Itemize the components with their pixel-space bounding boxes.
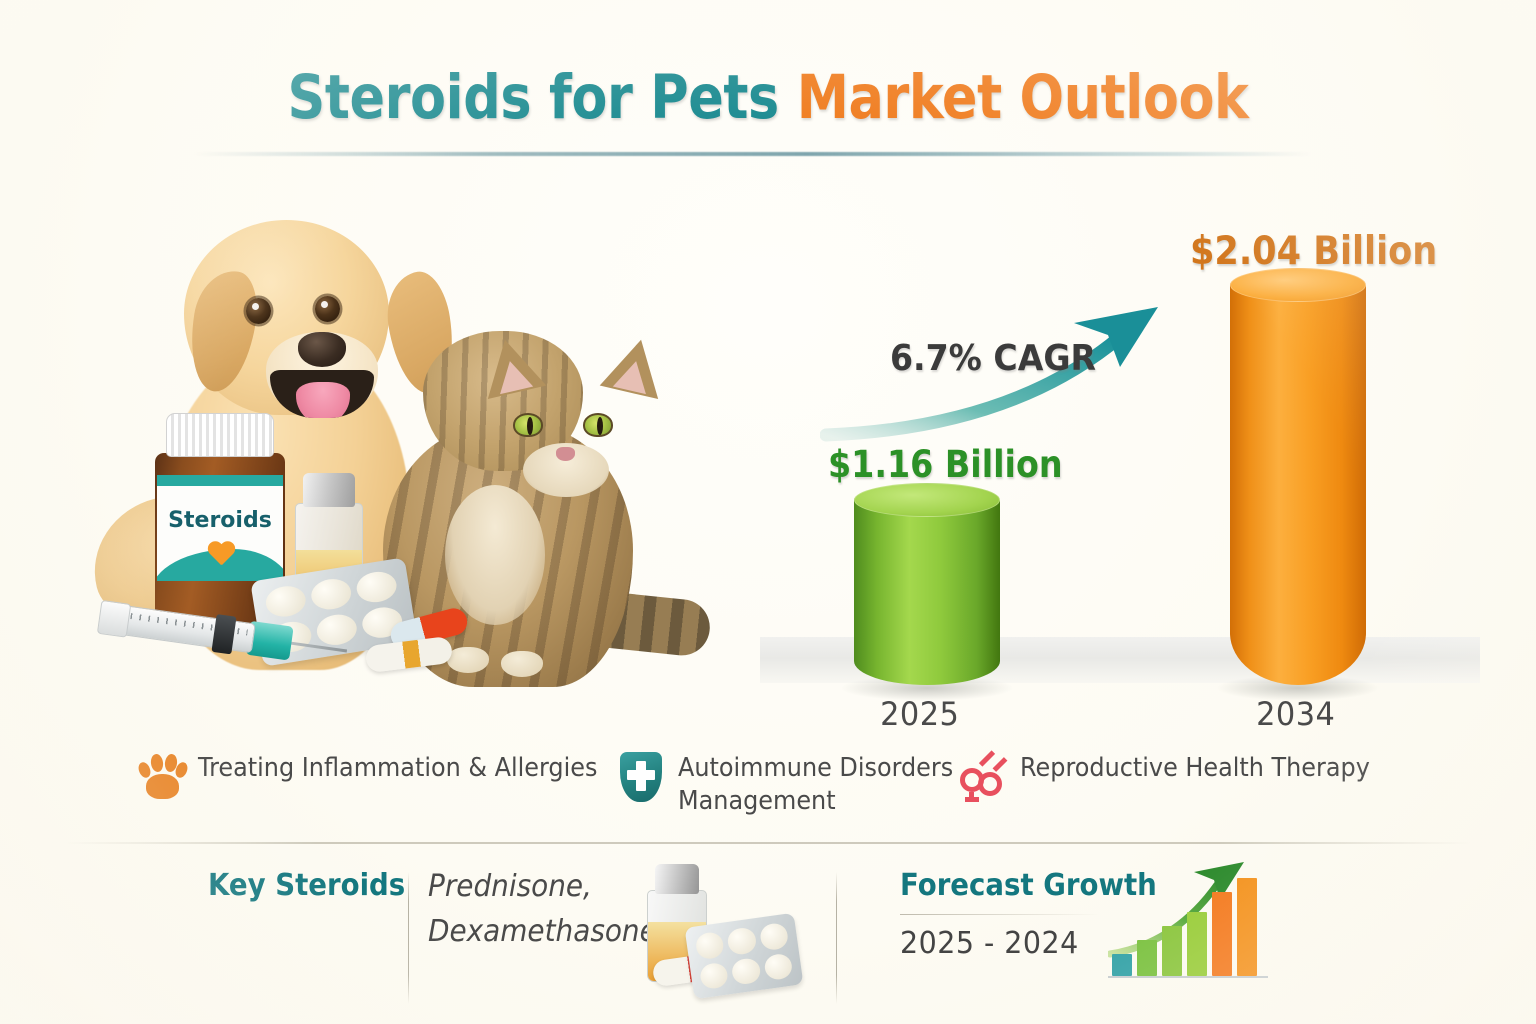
bar-body — [854, 500, 1000, 685]
key-steroids-title: Key Steroids — [208, 868, 405, 903]
dog-eye-left — [246, 298, 271, 324]
cat-ear-left — [476, 333, 547, 399]
feature-row: Treating Inflammation & Allergies Autoim… — [60, 748, 1480, 828]
mini-bar — [1237, 878, 1257, 976]
vertical-divider-2 — [836, 872, 837, 1004]
syringe-plunger — [97, 600, 131, 638]
axis-label-2034: 2034 — [1256, 695, 1335, 733]
bar-2034 — [1230, 285, 1366, 685]
bar-2025 — [854, 500, 1000, 685]
hero-illustration: Steroids — [60, 185, 760, 725]
feature-label: Reproductive Health Therapy — [1020, 752, 1370, 785]
bar-body — [1230, 285, 1366, 685]
feature-reproductive-health: Reproductive Health Therapy — [960, 752, 1400, 802]
bottom-panel: Key Steroids Prednisone, Dexamethasone F… — [60, 856, 1480, 1016]
cat-head — [423, 331, 583, 471]
capsules — [350, 615, 480, 669]
cat-paw-right — [501, 651, 543, 677]
bottle-label-text: Steroids — [157, 508, 283, 533]
mini-growth-chart — [1108, 862, 1268, 992]
shield-cross-icon — [618, 752, 664, 802]
mini-bar — [1137, 940, 1157, 976]
small-vial-cap — [655, 864, 699, 894]
feature-label: Autoimmune Disorders Management — [678, 752, 953, 819]
paw-icon — [138, 752, 184, 802]
cat-ear-right — [600, 333, 671, 399]
market-size-bar-chart: $1.16 Billion $2.04 Billion 2025 2034 — [760, 215, 1480, 735]
bar-top-ellipse — [1230, 268, 1366, 302]
bottle-label: Steroids — [157, 475, 283, 581]
pill — [695, 931, 726, 960]
cat-nose — [556, 447, 575, 461]
title-divider — [193, 152, 1311, 156]
dog-ear-left — [183, 266, 263, 396]
title-part-orange: Market Outlook — [797, 62, 1249, 133]
axis-label-2025: 2025 — [880, 695, 959, 733]
mini-chart-baseline — [1108, 976, 1268, 978]
pill — [699, 961, 730, 990]
heart-icon — [207, 542, 235, 567]
vertical-divider-1 — [408, 872, 409, 1004]
pill — [759, 922, 790, 951]
feature-label: Treating Inflammation & Allergies — [198, 752, 597, 785]
pill — [727, 926, 758, 955]
cat-eye-left — [513, 413, 543, 437]
mini-bar — [1187, 912, 1207, 976]
syringe-barrel — [121, 605, 256, 653]
forecast-underline — [900, 914, 1100, 915]
small-blister-pack — [685, 913, 804, 1000]
dog-eye-right — [315, 296, 340, 322]
cat-eye-right — [583, 413, 613, 437]
mini-bar — [1212, 892, 1232, 976]
title-part-teal: Steroids for Pets — [287, 62, 796, 133]
capsule-white — [365, 636, 454, 673]
infographic-canvas: Steroids for Pets Market Outlook — [0, 0, 1536, 1024]
gender-symbols-icon — [960, 752, 1006, 802]
mini-bar — [1112, 954, 1132, 976]
feature-autoimmune-management: Autoimmune Disorders Management — [618, 752, 977, 819]
pill — [309, 576, 353, 612]
dog-tongue — [296, 382, 350, 418]
pill — [763, 952, 794, 981]
bottom-divider — [64, 842, 1472, 844]
vial-cap — [303, 473, 355, 507]
bottle-cap — [166, 413, 274, 457]
bar-top-ellipse — [854, 483, 1000, 517]
cagr-annotation: 6.7% CAGR — [890, 338, 1096, 379]
value-label-2034: $2.04 Billion — [1190, 229, 1437, 274]
forecast-years: 2025 - 2024 — [900, 926, 1079, 961]
cat-chest — [445, 485, 545, 625]
feature-inflammation-allergies: Treating Inflammation & Allergies — [138, 752, 632, 802]
pill — [355, 569, 399, 605]
page-title: Steroids for Pets Market Outlook — [0, 62, 1536, 133]
mini-bar — [1162, 926, 1182, 976]
pill-vial-illustration — [615, 864, 805, 999]
pill — [731, 957, 762, 986]
